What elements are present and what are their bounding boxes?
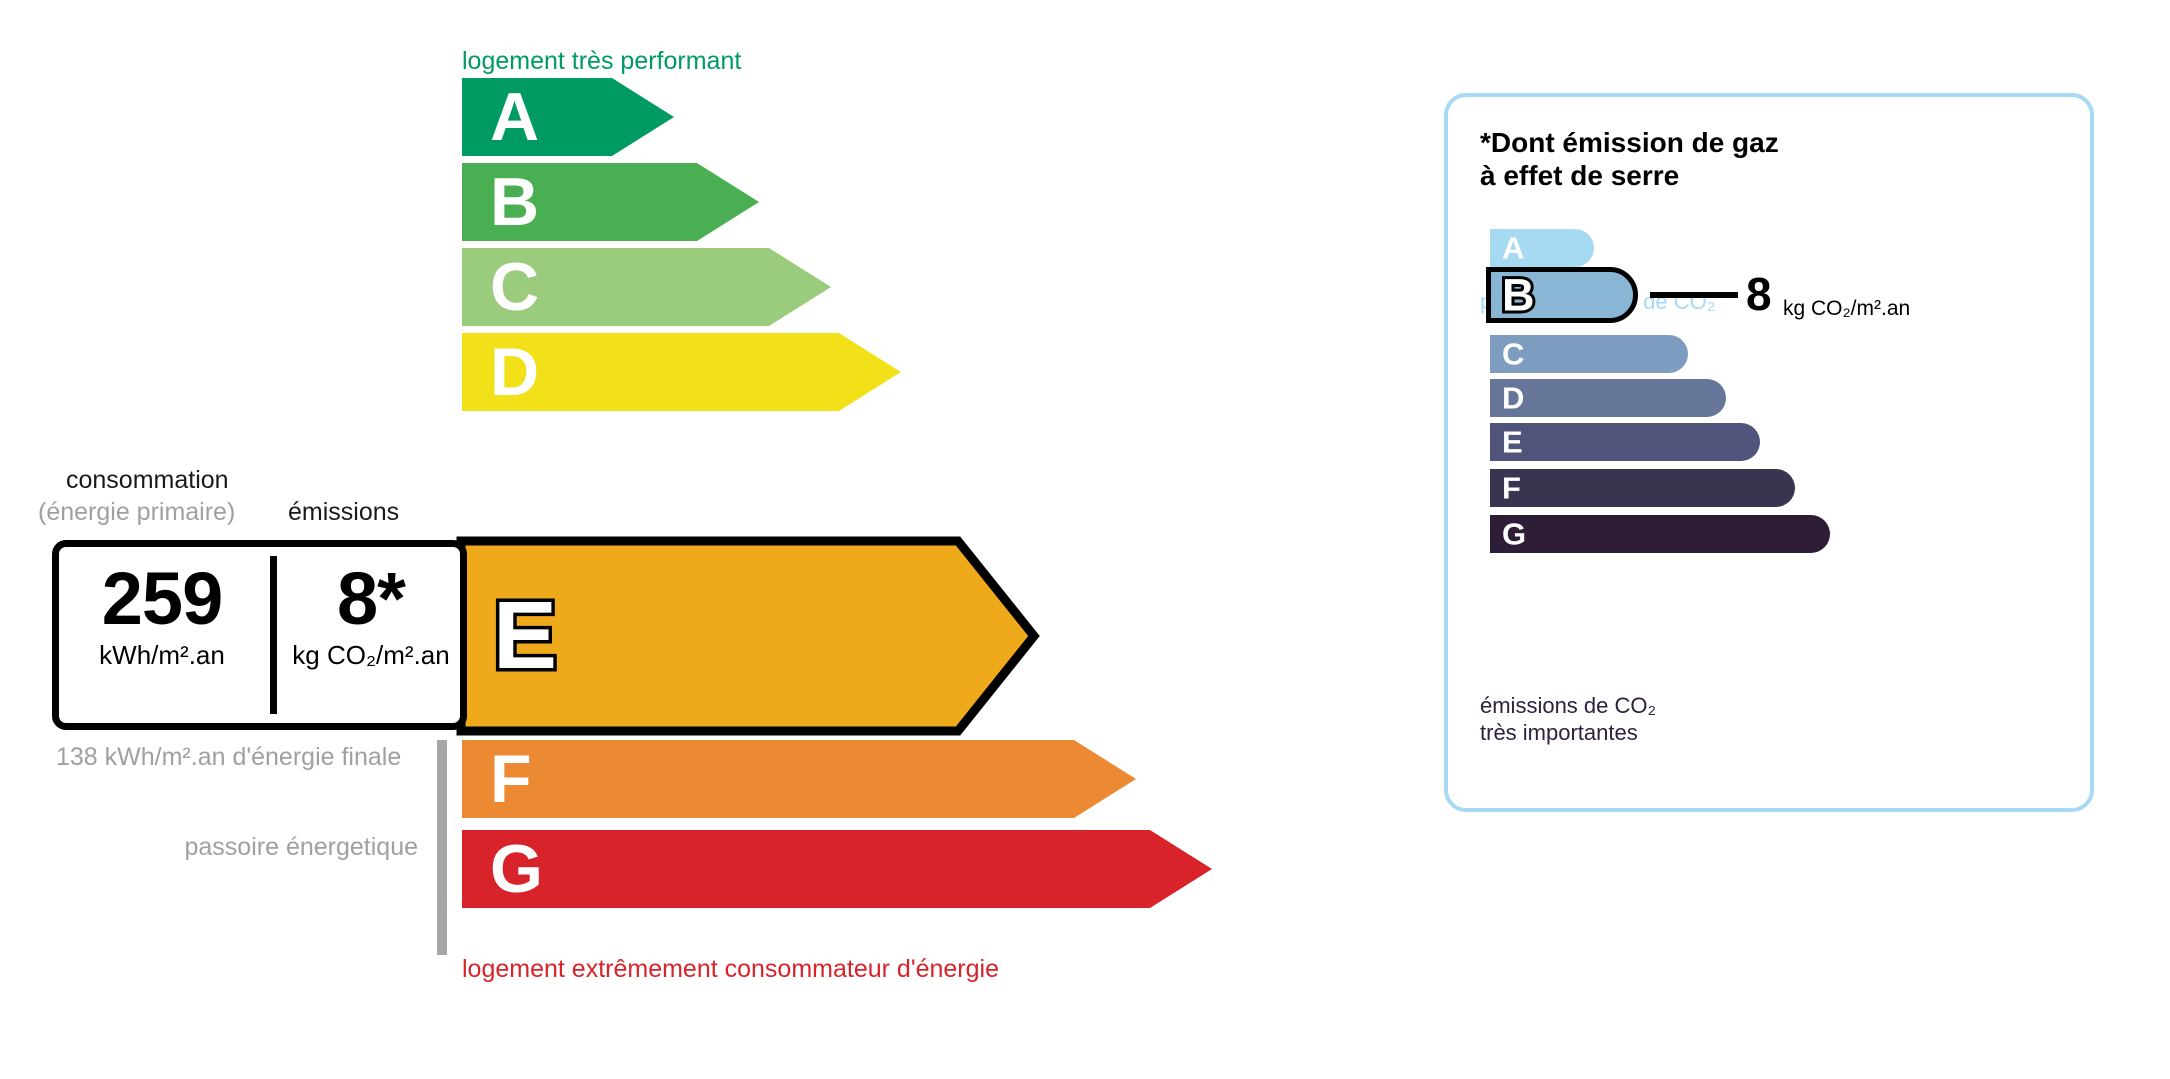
co2-emissions-panel: *Dont émission de gaz à effet de serre p… bbox=[1444, 93, 2094, 812]
co2-value: 8 bbox=[1746, 271, 1772, 317]
final-energy-label: 138 kWh/m².an d'énergie finale bbox=[56, 742, 401, 773]
co2-bar-f[interactable]: F bbox=[1490, 469, 1795, 507]
result-divider bbox=[270, 556, 277, 714]
energy-band-e-letter: E bbox=[493, 588, 557, 684]
co2-bar-e[interactable]: E bbox=[1490, 423, 1760, 461]
energy-band-f[interactable]: F bbox=[462, 740, 1136, 818]
consumption-label: consommation bbox=[66, 466, 229, 495]
co2-bar-g[interactable]: G bbox=[1490, 515, 1830, 553]
energy-bottom-caption: logement extrêmement consommateur d'éner… bbox=[462, 955, 999, 984]
co2-bar-c-letter: C bbox=[1502, 339, 1524, 370]
co2-bar-f-letter: F bbox=[1502, 473, 1521, 504]
co2-value-unit: kg CO₂/m².an bbox=[1783, 298, 1910, 319]
consumption-result: 259 kWh/m².an bbox=[62, 563, 262, 671]
energy-band-c-letter: C bbox=[490, 253, 539, 321]
dpe-diagram: logement très performant A B C D E F G bbox=[0, 0, 2170, 1079]
co2-bar-b-letter: B bbox=[1502, 273, 1535, 318]
emission-value: 8* bbox=[281, 563, 461, 634]
co2-bar-g-letter: G bbox=[1502, 519, 1526, 550]
emission-unit: kg CO₂/m².an bbox=[281, 640, 461, 671]
energy-band-e-current[interactable]: E bbox=[456, 536, 1039, 736]
co2-bar-d-letter: D bbox=[1502, 383, 1524, 414]
co2-bottom-caption: émissions de CO₂ très importantes bbox=[1480, 693, 1656, 747]
co2-leader-line bbox=[1650, 292, 1738, 298]
co2-bar-c[interactable]: C bbox=[1490, 335, 1688, 373]
energy-band-d-letter: D bbox=[490, 338, 539, 406]
energy-band-a-letter: A bbox=[490, 83, 539, 151]
energy-performance-chart: logement très performant A B C D E F G bbox=[0, 0, 1400, 1079]
emissions-label: émissions bbox=[288, 498, 399, 527]
primary-energy-label: (énergie primaire) bbox=[38, 498, 235, 527]
energy-band-g[interactable]: G bbox=[462, 830, 1212, 908]
passoire-energetique-label: passoire énergetique bbox=[150, 832, 418, 863]
consumption-value: 259 bbox=[62, 563, 262, 634]
energy-band-a[interactable]: A bbox=[462, 78, 674, 156]
consumption-unit: kWh/m².an bbox=[62, 640, 262, 671]
co2-panel-title: *Dont émission de gaz à effet de serre bbox=[1480, 126, 1779, 192]
co2-bar-e-letter: E bbox=[1502, 427, 1523, 458]
energy-band-g-letter: G bbox=[490, 835, 543, 903]
co2-bar-d[interactable]: D bbox=[1490, 379, 1726, 417]
energy-band-c[interactable]: C bbox=[462, 248, 831, 326]
energy-band-b-letter: B bbox=[490, 168, 539, 236]
co2-bar-a[interactable]: A bbox=[1490, 229, 1594, 267]
passoire-bracket bbox=[437, 740, 447, 955]
energy-top-caption: logement très performant bbox=[462, 47, 741, 76]
co2-bar-a-letter: A bbox=[1502, 233, 1524, 264]
energy-band-f-letter: F bbox=[490, 745, 532, 813]
energy-band-b[interactable]: B bbox=[462, 163, 759, 241]
emission-result: 8* kg CO₂/m².an bbox=[281, 563, 461, 671]
co2-bar-b-current[interactable]: B bbox=[1486, 267, 1638, 323]
energy-band-d[interactable]: D bbox=[462, 333, 901, 411]
